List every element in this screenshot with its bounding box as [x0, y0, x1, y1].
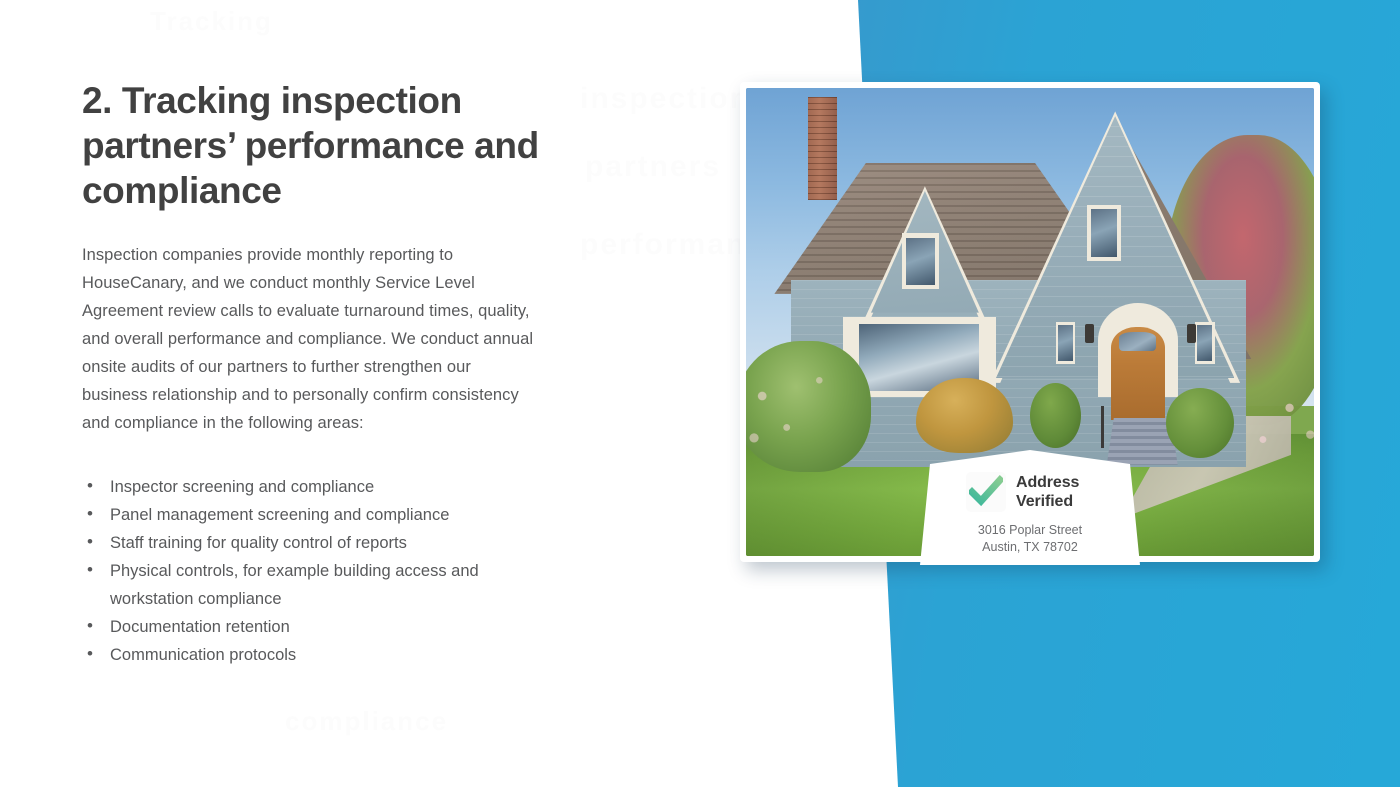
shrub-orange — [916, 378, 1013, 453]
watermark-line: performance — [580, 228, 760, 262]
dormer-window — [902, 233, 939, 289]
list-item: Documentation retention — [82, 613, 522, 641]
shrub-center — [1030, 383, 1081, 449]
watermark-line: compliance — [285, 706, 448, 737]
shrub-right — [1183, 359, 1314, 481]
address-verified-badge: Address Verified 3016 Poplar Street Aust… — [920, 450, 1140, 565]
body-paragraph: Inspection companies provide monthly rep… — [82, 241, 534, 437]
porch-lamp-left-icon — [1085, 324, 1094, 343]
entry-side-window-left — [1056, 322, 1076, 364]
badge-title-line-2: Verified — [1016, 493, 1073, 510]
shrub-left — [746, 341, 871, 472]
porch-lamp-right-icon — [1187, 324, 1196, 343]
badge-address: 3016 Poplar Street Austin, TX 78702 — [920, 522, 1140, 556]
text-column: 2. Tracking inspection partners’ perform… — [82, 78, 552, 669]
gable-window — [1087, 205, 1121, 261]
badge-header: Address Verified — [966, 472, 1079, 512]
list-item: Communication protocols — [82, 641, 522, 669]
badge-title: Address Verified — [1016, 473, 1079, 511]
watermark-line: inspection — [580, 82, 750, 116]
address-line-2: Austin, TX 78702 — [920, 539, 1140, 556]
entry-side-window-right — [1195, 322, 1215, 364]
badge-title-line-1: Address — [1016, 474, 1079, 491]
watermark-line: partners — [585, 150, 721, 184]
chimney — [808, 97, 836, 200]
page-title: 2. Tracking inspection partners’ perform… — [82, 78, 552, 213]
slide-root: Tracking inspection partners performance… — [0, 0, 1400, 787]
green-check-icon — [966, 472, 1006, 512]
compliance-area-list: Inspector screening and compliance Panel… — [82, 473, 522, 669]
front-door — [1111, 327, 1165, 421]
watermark-line: Tracking — [150, 6, 273, 37]
list-item: Staff training for quality control of re… — [82, 529, 522, 557]
list-item: Inspector screening and compliance — [82, 473, 522, 501]
handrail-left — [1101, 406, 1104, 448]
list-item: Panel management screening and complianc… — [82, 501, 522, 529]
address-line-1: 3016 Poplar Street — [920, 522, 1140, 539]
list-item: Physical controls, for example building … — [82, 557, 522, 613]
